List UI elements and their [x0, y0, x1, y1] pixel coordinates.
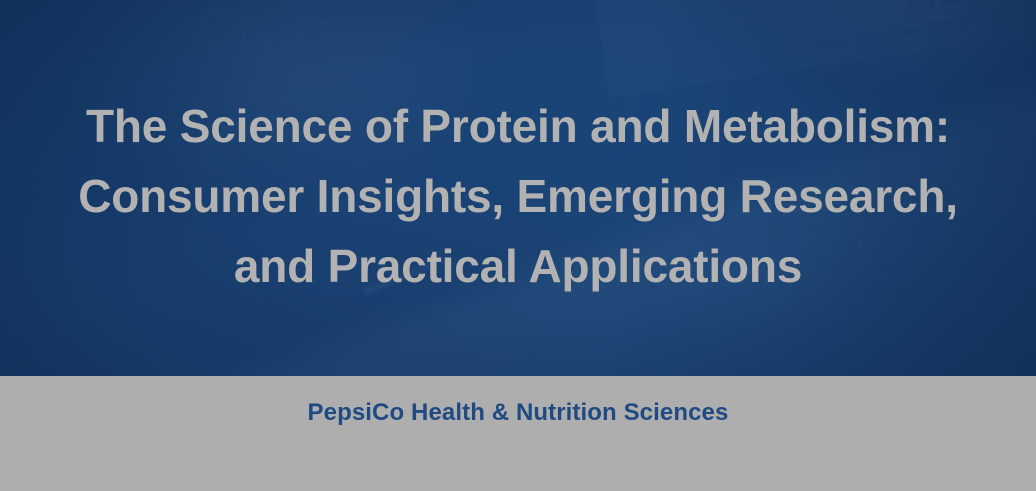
hero-section: Practice Tuesday, September 28th, 2021 |…: [0, 0, 1036, 376]
page-title: The Science of Protein and Metabolism: C…: [0, 91, 1036, 301]
page-title-line-1: The Science of Protein and Metabolism:: [26, 91, 1010, 161]
title-slide: Practice Tuesday, September 28th, 2021 |…: [0, 0, 1036, 491]
organization-name: PepsiCo Health & Nutrition Sciences: [0, 399, 1036, 427]
page-title-line-2: Consumer Insights, Emerging Research,: [26, 161, 1010, 231]
footer-band: PepsiCo Health & Nutrition Sciences: [0, 376, 1036, 491]
page-title-line-3: and Practical Applications: [26, 231, 1010, 301]
